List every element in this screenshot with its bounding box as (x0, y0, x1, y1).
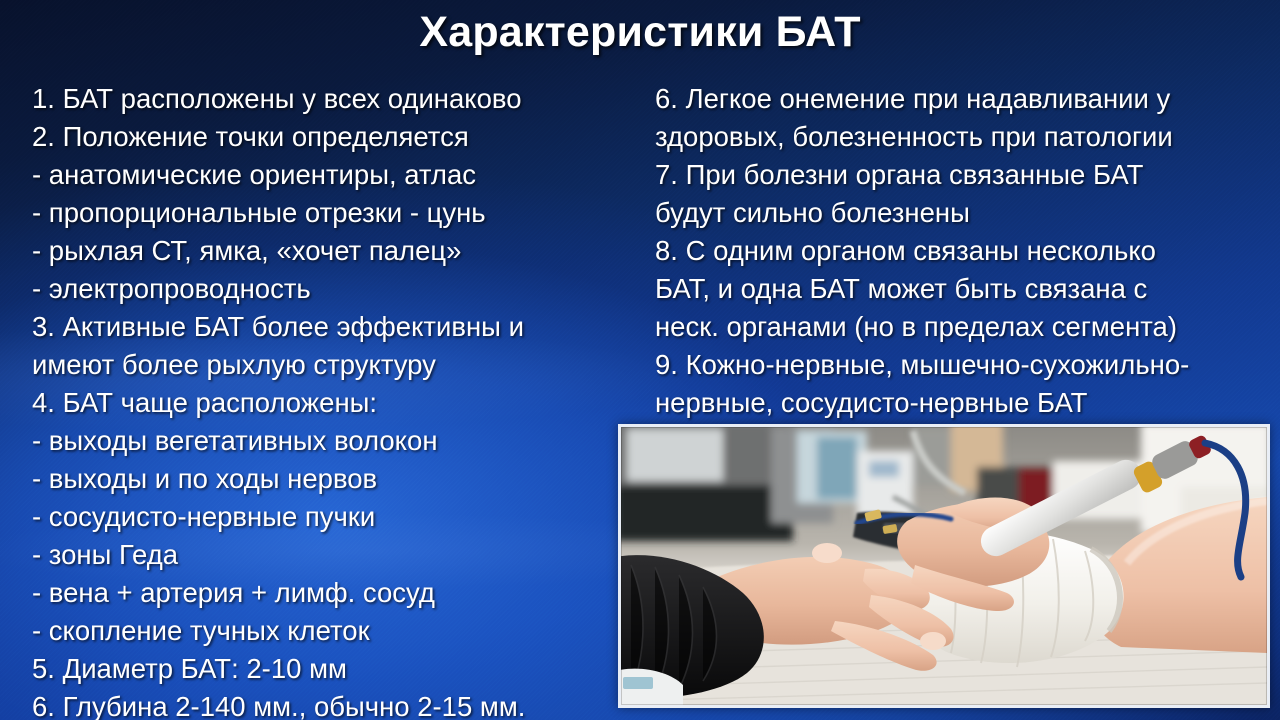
list-item: БАТ, и одна БАТ может быть связана с (655, 270, 1265, 308)
list-item: - вена + артерия + лимф. сосуд (32, 574, 632, 612)
list-item: - рыхлая СТ, ямка, «хочет палец» (32, 232, 632, 270)
list-item: 6. Глубина 2-140 мм., обычно 2-15 мм. (32, 688, 632, 720)
fingernail (920, 632, 946, 650)
list-item: 6. Легкое онемение при надавливании у (655, 80, 1265, 118)
list-item: - электропроводность (32, 270, 632, 308)
list-item: - зоны Геда (32, 536, 632, 574)
list-item: 1. БАТ расположены у всех одинаково (32, 80, 632, 118)
bench-object-label (623, 677, 653, 689)
list-item: здоровых, болезненность при патологии (655, 118, 1265, 156)
slide-title: Характеристики БАТ (0, 8, 1280, 57)
fingernail (812, 543, 842, 563)
list-item: 8. С одним органом связаны несколько (655, 232, 1265, 270)
list-item: 3. Активные БАТ более эффективны и (32, 308, 632, 346)
list-item: - скопление тучных клеток (32, 612, 632, 650)
list-item: 2. Положение точки определяется (32, 118, 632, 156)
list-item: нервные, сосудисто-нервные БАТ (655, 384, 1265, 422)
list-item: - анатомические ориентиры, атлас (32, 156, 632, 194)
treatment-photo (618, 424, 1270, 708)
list-item: 4. БАТ чаще расположены: (32, 384, 632, 422)
list-item: имеют более рыхлую структуру (32, 346, 632, 384)
list-item: неск. органами (но в пределах сегмента) (655, 308, 1265, 346)
list-item: 9. Кожно-нервные, мышечно-сухожильно- (655, 346, 1265, 384)
list-item: будут сильно болезнены (655, 194, 1265, 232)
list-item: - выходы вегетативных волокон (32, 422, 632, 460)
treatment-photo-illustration (621, 427, 1267, 705)
list-item: 7. При болезни органа связанные БАТ (655, 156, 1265, 194)
list-item: - сосудисто-нервные пучки (32, 498, 632, 536)
list-item: - выходы и по ходы нервов (32, 460, 632, 498)
presentation-slide: Характеристики БАТ 1. БАТ расположены у … (0, 0, 1280, 720)
list-item: - пропорциональные отрезки - цунь (32, 194, 632, 232)
list-item: 5. Диаметр БАТ: 2-10 мм (32, 650, 632, 688)
right-content-column: 6. Легкое онемение при надавливании у зд… (655, 80, 1265, 422)
left-content-column: 1. БАТ расположены у всех одинаково 2. П… (32, 80, 632, 720)
